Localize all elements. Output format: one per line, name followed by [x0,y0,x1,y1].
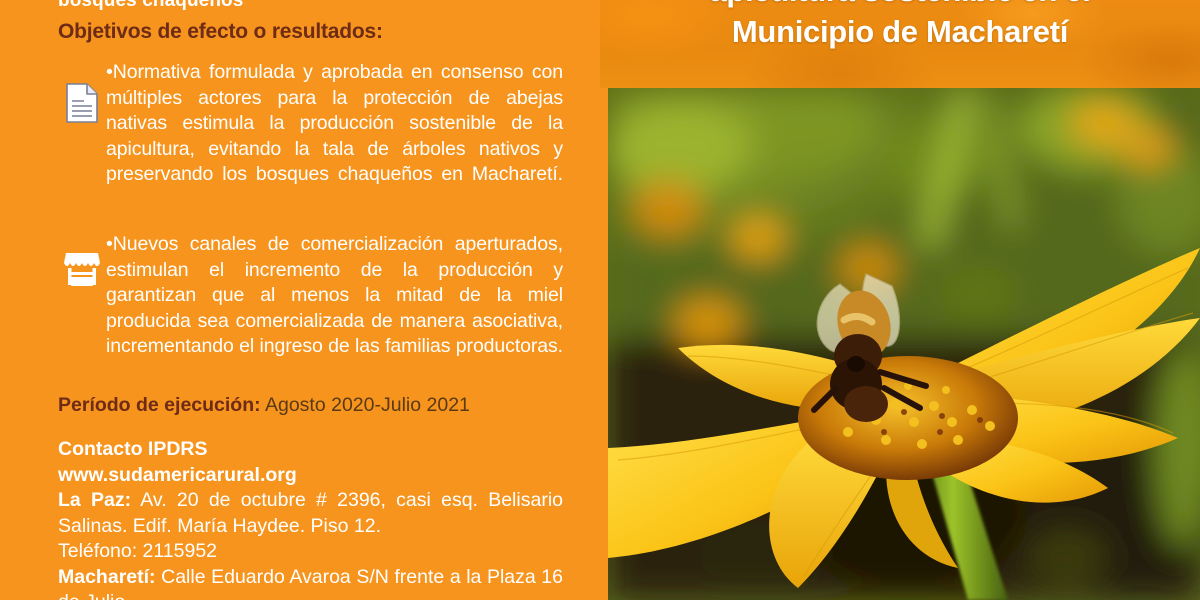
right-media-panel: apicultura sostenible en el Municipio de… [608,0,1200,600]
list-item-text: •Nuevos canales de comercialización aper… [106,232,563,385]
contact-la-paz-label: La Paz: [58,489,131,511]
execution-period: Período de ejecución: Agosto 2020-Julio … [58,392,578,418]
contact-la-paz-address: Av. 20 de octubre # 2396, casi esq. Beli… [58,489,563,537]
contact-macharetí-label: Macharetí: [58,566,156,588]
banner-title: apicultura sostenible en el Municipio de… [600,0,1200,52]
left-content-panel: bosques chaqueños Objetivos de efecto o … [0,0,608,600]
banner-title-line-2: Municipio de Macharetí [600,11,1200,52]
list-item-text: •Normativa formulada y aprobada en conse… [106,60,563,213]
contact-macharetí: Macharetí: Calle Eduardo Avaroa S/N fren… [58,565,563,600]
contact-la-paz: La Paz: Av. 20 de octubre # 2396, casi e… [58,488,563,539]
bee-on-yellow-flower-photo [608,88,1200,600]
brochure-page: bosques chaqueños Objetivos de efecto o … [0,0,1200,600]
list-item: •Normativa formulada y aprobada en conse… [58,60,563,213]
title-banner: apicultura sostenible en el Municipio de… [600,0,1200,88]
clipped-top-text: bosques chaqueños [58,0,243,12]
contact-website[interactable]: www.sudamericarural.org [58,463,563,489]
document-icon [58,60,106,124]
execution-period-label: Período de ejecución: [58,394,261,416]
contact-title: Contacto IPDRS [58,437,563,463]
contact-phone: Teléfono: 2115952 [58,539,563,565]
contact-block: Contacto IPDRS www.sudamericarural.org L… [58,437,563,600]
page-title: Objetivos de efecto o resultados: [58,20,383,44]
banner-title-line-1: apicultura sostenible en el [600,0,1200,11]
list-item: •Nuevos canales de comercialización aper… [58,232,563,385]
execution-period-value: Agosto 2020-Julio 2021 [265,394,470,416]
market-stall-icon [58,232,106,288]
